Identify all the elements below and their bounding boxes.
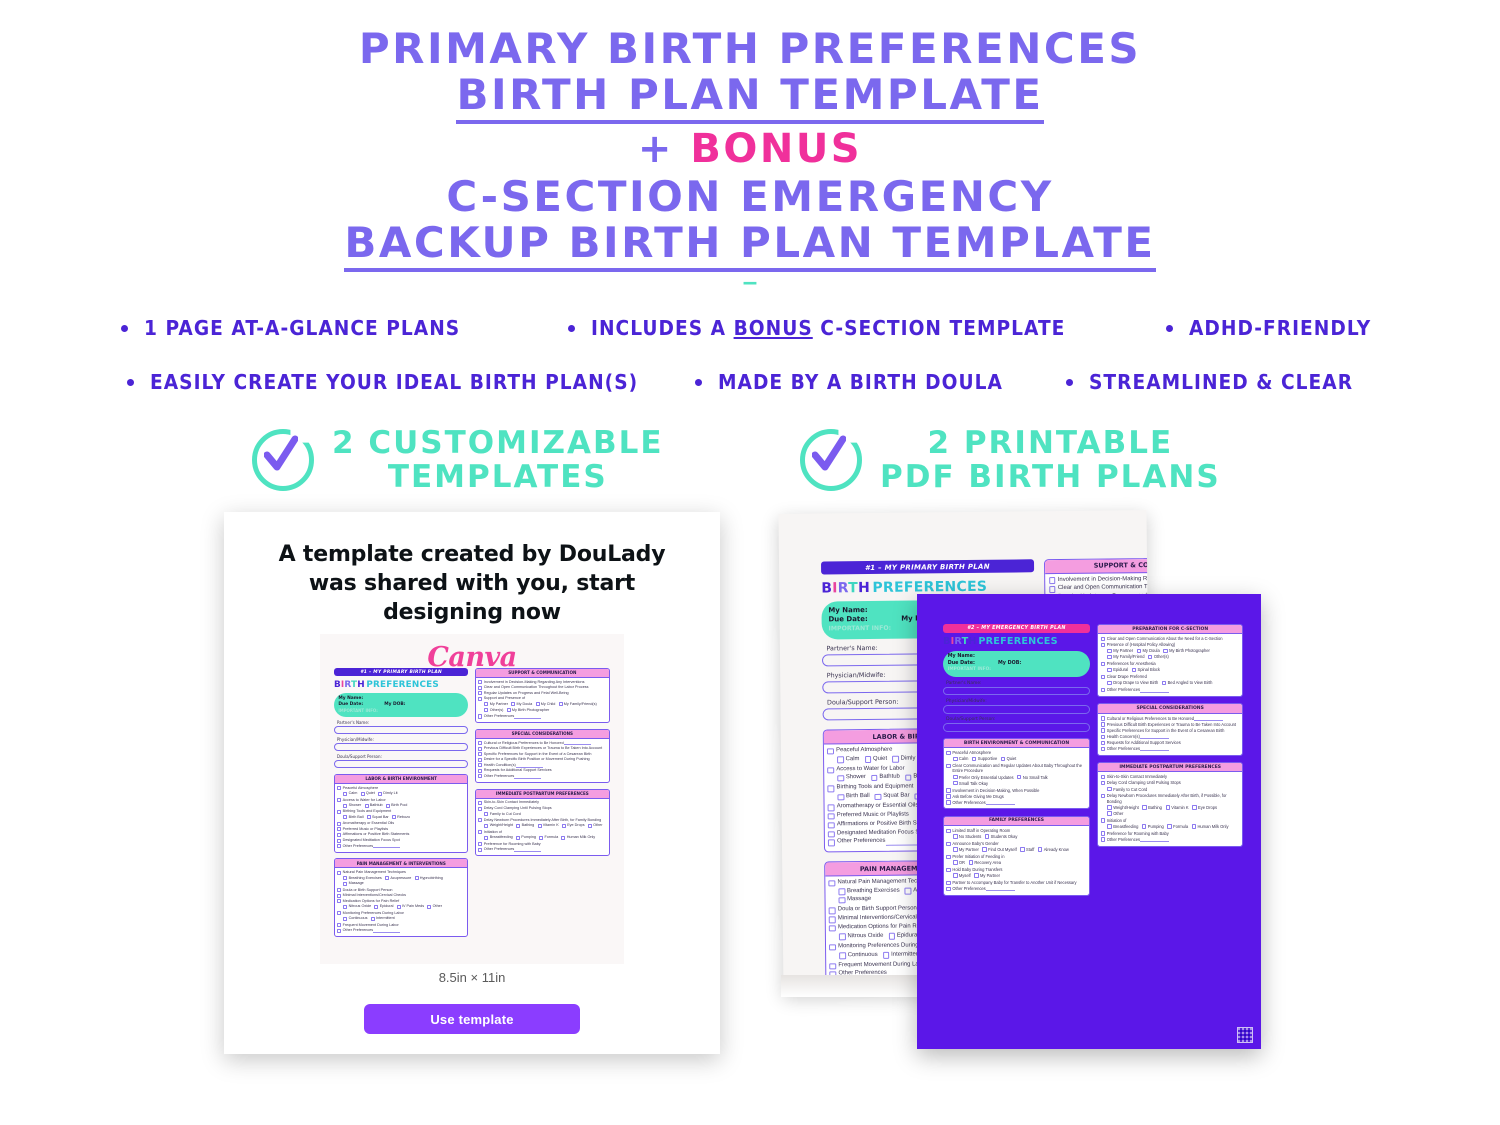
checkbox-icon[interactable] <box>953 860 957 864</box>
checkbox-icon[interactable] <box>478 807 482 811</box>
checkbox-icon[interactable] <box>337 827 341 831</box>
checkbox-icon[interactable] <box>1101 794 1105 798</box>
checkbox-item[interactable]: Specific Preferences for Support in the … <box>1101 728 1240 733</box>
doc-field[interactable]: Partner's Name: <box>943 681 1090 696</box>
checkbox-option[interactable]: Squat Bar <box>875 793 910 801</box>
checkbox-icon[interactable] <box>837 757 843 763</box>
checkbox-icon[interactable] <box>343 792 347 796</box>
checkbox-option[interactable]: Students Okay <box>985 834 1018 839</box>
checkbox-icon[interactable] <box>1107 787 1111 791</box>
checkbox-icon[interactable] <box>561 836 565 840</box>
checkbox-option[interactable]: Massage <box>343 881 363 886</box>
checkbox-icon[interactable] <box>1163 649 1167 653</box>
checkbox-icon[interactable] <box>946 800 950 804</box>
checkbox-item[interactable]: Skin-to-Skin Contact Immediately <box>1101 774 1240 779</box>
checkbox-icon[interactable] <box>953 873 957 877</box>
checkbox-icon[interactable] <box>478 747 482 751</box>
doc-field[interactable]: Physician/Midwife: <box>334 737 468 751</box>
checkbox-option[interactable]: Massage <box>839 896 871 904</box>
checkbox-item[interactable]: Other Preferences <box>946 886 1086 891</box>
checkbox-item[interactable]: Ask Before Giving Me Drugs <box>946 794 1086 799</box>
checkbox-icon[interactable] <box>1101 818 1105 822</box>
checkbox-icon[interactable] <box>972 757 976 761</box>
checkbox-icon[interactable] <box>374 905 378 909</box>
checkbox-icon[interactable] <box>1001 757 1005 761</box>
checkbox-icon[interactable] <box>478 774 482 778</box>
doc-field-input[interactable] <box>943 723 1090 731</box>
checkbox-option[interactable]: Intermittent <box>883 951 921 959</box>
checkbox-option[interactable]: Myself <box>953 873 971 878</box>
checkbox-option[interactable]: OR <box>953 860 965 865</box>
checkbox-icon[interactable] <box>507 708 511 712</box>
checkbox-icon[interactable] <box>828 813 834 819</box>
checkbox-option[interactable]: Squat Bar <box>367 815 389 820</box>
checkbox-icon[interactable] <box>478 741 482 745</box>
checkbox-icon[interactable] <box>829 925 835 931</box>
checkbox-option[interactable]: Prefer Only Essential Updates <box>953 775 1013 780</box>
checkbox-icon[interactable] <box>427 905 431 909</box>
checkbox-icon[interactable] <box>1107 655 1111 659</box>
checkbox-icon[interactable] <box>478 848 482 852</box>
checkbox-item[interactable]: Clear and Open Communication About the N… <box>1101 636 1240 641</box>
checkbox-option[interactable]: Quiet <box>361 791 375 796</box>
checkbox-option[interactable]: Continuous <box>839 952 877 960</box>
checkbox-icon[interactable] <box>337 923 341 927</box>
checkbox-icon[interactable] <box>337 911 341 915</box>
checkbox-item[interactable]: Initiation of <box>1101 818 1240 823</box>
checkbox-item[interactable]: Involvement in Decision-Making Regarding… <box>1049 575 1152 585</box>
checkbox-item[interactable]: Regular Updates on Progress and Fetal We… <box>478 691 606 696</box>
checkbox-item[interactable]: Access to Water for Labor <box>337 798 465 803</box>
checkbox-item[interactable]: Support and Presence of <box>478 696 606 701</box>
checkbox-icon[interactable] <box>828 822 834 828</box>
checkbox-icon[interactable] <box>538 824 542 828</box>
checkbox-icon[interactable] <box>343 876 347 880</box>
checkbox-icon[interactable] <box>337 894 341 898</box>
checkbox-icon[interactable] <box>985 834 989 838</box>
checkbox-option[interactable]: Quiet <box>1001 756 1017 761</box>
checkbox-icon[interactable] <box>828 786 834 792</box>
checkbox-icon[interactable] <box>1101 716 1105 720</box>
checkbox-option[interactable]: Other(s) <box>1148 654 1169 659</box>
checkbox-icon[interactable] <box>946 842 950 846</box>
checkbox-icon[interactable] <box>337 929 341 933</box>
checkbox-option[interactable]: Birth Ball <box>838 793 870 801</box>
checkbox-icon[interactable] <box>1101 722 1105 726</box>
checkbox-icon[interactable] <box>829 916 835 922</box>
checkbox-icon[interactable] <box>1101 675 1105 679</box>
checkbox-option[interactable]: Shower <box>343 803 361 808</box>
checkbox-icon[interactable] <box>371 917 375 921</box>
checkbox-icon[interactable] <box>539 836 543 840</box>
checkbox-option[interactable]: Quiet <box>865 755 888 763</box>
checkbox-option[interactable]: No Small Talk <box>1017 775 1048 780</box>
checkbox-option[interactable]: Breastfeeding <box>484 835 512 840</box>
checkbox-icon[interactable] <box>415 876 419 880</box>
checkbox-option[interactable]: My Birth Photographer <box>507 708 550 713</box>
checkbox-icon[interactable] <box>478 758 482 762</box>
checkbox-icon[interactable] <box>1049 586 1055 592</box>
checkbox-option[interactable]: Pumping <box>1142 824 1164 829</box>
checkbox-icon[interactable] <box>478 714 482 718</box>
checkbox-icon[interactable] <box>982 847 986 851</box>
checkbox-icon[interactable] <box>1101 781 1105 785</box>
checkbox-item[interactable]: Clear and Open Communication Throughout … <box>1049 583 1151 593</box>
checkbox-item[interactable]: Other Preferences <box>1101 746 1240 751</box>
checkbox-option[interactable]: Dimly Lit <box>378 791 398 796</box>
checkbox-item[interactable]: Other Preferences <box>478 847 606 852</box>
checkbox-option[interactable]: Find Out Myself <box>982 847 1016 852</box>
checkbox-icon[interactable] <box>511 702 515 706</box>
checkbox-option[interactable]: Bathing <box>1142 805 1162 810</box>
checkbox-option[interactable]: Breathing Exercises <box>343 876 381 881</box>
checkbox-icon[interactable] <box>828 805 834 811</box>
checkbox-icon[interactable] <box>827 748 833 754</box>
checkbox-item[interactable]: Previous Difficult Birth Experiences or … <box>1101 722 1240 727</box>
checkbox-option[interactable]: No Students <box>953 834 981 839</box>
checkbox-icon[interactable] <box>484 836 488 840</box>
checkbox-item[interactable]: Minimal Interventions/Cervical Checks <box>337 893 465 898</box>
doc-field-input[interactable] <box>943 687 1090 695</box>
checkbox-option[interactable]: Family to Cut Cord <box>1107 787 1147 792</box>
checkbox-item[interactable]: Monitoring Preferences During Labor <box>337 911 465 916</box>
checkbox-option[interactable]: Intermittent <box>371 916 395 921</box>
checkbox-item[interactable]: Desire for a Specific Birth Position or … <box>478 757 606 762</box>
checkbox-option[interactable]: Pumping <box>516 835 536 840</box>
checkbox-icon[interactable] <box>1162 681 1166 685</box>
checkbox-icon[interactable] <box>337 810 341 814</box>
checkbox-option[interactable]: Epidural <box>888 932 918 940</box>
checkbox-option[interactable]: Calm <box>953 756 968 761</box>
checkbox-icon[interactable] <box>386 804 390 808</box>
checkbox-item[interactable]: Involvement in Decision-Making, When Pos… <box>946 788 1086 793</box>
checkbox-option[interactable]: Eye Drops <box>1192 805 1217 810</box>
checkbox-item[interactable]: Skin-to-Skin Contact Immediately <box>478 800 606 805</box>
checkbox-icon[interactable] <box>343 882 347 886</box>
checkbox-item[interactable]: Other Preferences <box>478 714 606 719</box>
checkbox-icon[interactable] <box>1101 662 1105 666</box>
checkbox-icon[interactable] <box>953 834 957 838</box>
checkbox-option[interactable]: Other <box>588 823 603 828</box>
checkbox-icon[interactable] <box>343 804 347 808</box>
checkbox-option[interactable]: My Partner <box>484 702 508 707</box>
checkbox-item[interactable]: Affirmations or Positive Birth Statement… <box>337 832 465 837</box>
checkbox-icon[interactable] <box>1142 824 1146 828</box>
checkbox-icon[interactable] <box>953 757 957 761</box>
checkbox-icon[interactable] <box>478 686 482 690</box>
checkbox-option[interactable]: Epidural <box>1107 667 1128 672</box>
checkbox-item[interactable]: Delay Cord Clamping Until Pulsing Stops <box>478 806 606 811</box>
checkbox-icon[interactable] <box>946 829 950 833</box>
checkbox-option[interactable]: Hypnobirthing <box>415 876 443 881</box>
use-template-button[interactable]: Use template <box>364 1004 580 1034</box>
checkbox-option[interactable]: Other <box>427 904 442 909</box>
checkbox-icon[interactable] <box>892 756 898 762</box>
checkbox-icon[interactable] <box>875 794 881 800</box>
checkbox-icon[interactable] <box>361 792 365 796</box>
checkbox-item[interactable]: Delay Newborn Procedures Immediately Aft… <box>478 818 606 823</box>
checkbox-icon[interactable] <box>365 804 369 808</box>
checkbox-icon[interactable] <box>478 752 482 756</box>
checkbox-icon[interactable] <box>1137 649 1141 653</box>
checkbox-icon[interactable] <box>830 963 836 969</box>
checkbox-icon[interactable] <box>337 798 341 802</box>
checkbox-icon[interactable] <box>1142 805 1146 809</box>
checkbox-option[interactable]: Small Talk Okay <box>953 781 988 786</box>
checkbox-icon[interactable] <box>484 812 488 816</box>
checkbox-option[interactable]: Birth Ball <box>343 815 363 820</box>
checkbox-item[interactable]: Initiation of <box>478 830 606 835</box>
checkbox-option[interactable]: Calm <box>343 791 357 796</box>
checkbox-option[interactable]: Shower <box>837 774 866 782</box>
checkbox-icon[interactable] <box>484 708 488 712</box>
checkbox-icon[interactable] <box>905 775 911 781</box>
checkbox-icon[interactable] <box>337 833 341 837</box>
checkbox-option[interactable]: My Family/Friend(s) <box>559 702 597 707</box>
checkbox-item[interactable]: Preferences for Anesthesia <box>1101 661 1240 666</box>
checkbox-icon[interactable] <box>1020 847 1024 851</box>
checkbox-icon[interactable] <box>1101 728 1105 732</box>
checkbox-icon[interactable] <box>1038 847 1042 851</box>
checkbox-icon[interactable] <box>871 775 877 781</box>
checkbox-icon[interactable] <box>974 873 978 877</box>
doc-field-input[interactable] <box>334 726 468 734</box>
checkbox-option[interactable]: Recovery Area <box>969 860 1002 865</box>
checkbox-option[interactable]: Weight/Height <box>1107 805 1138 810</box>
checkbox-option[interactable]: Epidural <box>374 904 393 909</box>
checkbox-icon[interactable] <box>946 881 950 885</box>
checkbox-icon[interactable] <box>946 794 950 798</box>
checkbox-icon[interactable] <box>1101 637 1105 641</box>
checkbox-icon[interactable] <box>828 840 834 846</box>
checkbox-icon[interactable] <box>559 702 563 706</box>
checkbox-option[interactable]: My Child <box>536 702 556 707</box>
checkbox-icon[interactable] <box>839 888 845 894</box>
checkbox-icon[interactable] <box>905 888 911 894</box>
checkbox-option[interactable]: Vitamin K <box>538 823 559 828</box>
checkbox-item[interactable]: Peaceful Atmosphere <box>337 786 465 791</box>
checkbox-item[interactable]: Other Preferences <box>337 928 465 933</box>
checkbox-icon[interactable] <box>946 868 950 872</box>
checkbox-option[interactable]: Breastfeeding <box>1107 824 1138 829</box>
checkbox-option[interactable]: Nitrous Oxide <box>343 904 371 909</box>
checkbox-icon[interactable] <box>969 860 973 864</box>
checkbox-option[interactable]: Acupressure <box>385 876 411 881</box>
checkbox-item[interactable]: Cultural or Religious Preferences to Be … <box>1101 716 1240 721</box>
checkbox-icon[interactable] <box>1107 668 1111 672</box>
checkbox-icon[interactable] <box>1167 824 1171 828</box>
checkbox-item[interactable]: Preference for Rooming with Baby <box>1101 831 1240 836</box>
checkbox-icon[interactable] <box>536 702 540 706</box>
checkbox-option[interactable]: IV Pain Meds <box>397 904 424 909</box>
checkbox-icon[interactable] <box>883 952 889 958</box>
checkbox-icon[interactable] <box>1107 811 1111 815</box>
checkbox-item[interactable]: Cultural or Religious Preferences to Be … <box>478 741 606 746</box>
checkbox-icon[interactable] <box>478 830 482 834</box>
checkbox-icon[interactable] <box>1101 775 1105 779</box>
doc-field[interactable]: Doula/Support Person: <box>334 754 468 768</box>
checkbox-icon[interactable] <box>337 844 341 848</box>
checkbox-item[interactable]: Preference for Rooming with Baby <box>478 842 606 847</box>
checkbox-icon[interactable] <box>839 897 845 903</box>
canva-template-preview[interactable]: Canva #1 – MY PRIMARY BIRTH PLANBIRTHPRE… <box>320 634 624 964</box>
checkbox-item[interactable]: Health Concern(s) <box>1101 734 1240 739</box>
checkbox-option[interactable]: Eye Drops <box>562 823 585 828</box>
checkbox-icon[interactable] <box>484 702 488 706</box>
doc-field-input[interactable] <box>334 760 468 768</box>
checkbox-option[interactable]: Bathing <box>516 823 534 828</box>
doc-field[interactable]: Doula/Support Person: <box>943 717 1090 732</box>
checkbox-icon[interactable] <box>484 824 488 828</box>
checkbox-item[interactable]: Other Preferences <box>337 844 465 849</box>
checkbox-icon[interactable] <box>1101 741 1105 745</box>
checkbox-item[interactable]: Other Preferences <box>1101 687 1240 692</box>
checkbox-option[interactable]: Spinal Block <box>1132 667 1160 672</box>
checkbox-option[interactable]: Calm <box>837 756 859 764</box>
checkbox-item[interactable]: Specific Preferences for Support in the … <box>478 752 606 757</box>
checkbox-option[interactable]: My Doula <box>1137 648 1160 653</box>
checkbox-item[interactable]: Hold Baby During Transfers <box>946 867 1086 872</box>
checkbox-option[interactable]: Human Milk Only <box>561 835 595 840</box>
checkbox-icon[interactable] <box>1107 649 1111 653</box>
checkbox-item[interactable]: Aromatherapy or Essential Oils <box>337 821 465 826</box>
checkbox-icon[interactable] <box>337 839 341 843</box>
checkbox-option[interactable]: Rebozo <box>392 815 410 820</box>
checkbox-icon[interactable] <box>829 908 835 914</box>
checkbox-icon[interactable] <box>829 944 835 950</box>
checkbox-icon[interactable] <box>1017 775 1021 779</box>
checkbox-item[interactable]: Other Preferences <box>946 800 1086 805</box>
checkbox-option[interactable]: Nitrous Oxide <box>839 933 883 941</box>
doc-field[interactable]: Partner's Name: <box>334 720 468 734</box>
checkbox-icon[interactable] <box>827 767 833 773</box>
checkbox-icon[interactable] <box>478 763 482 767</box>
checkbox-item[interactable]: Prefer Initiation of Feeding in <box>946 854 1086 859</box>
checkbox-item[interactable]: Birthing Tools and Equipment <box>337 809 465 814</box>
checkbox-icon[interactable] <box>588 824 592 828</box>
checkbox-item[interactable]: Preferred Music or Playlists <box>337 827 465 832</box>
checkbox-icon[interactable] <box>378 792 382 796</box>
checkbox-icon[interactable] <box>562 824 566 828</box>
checkbox-icon[interactable] <box>1107 824 1111 828</box>
checkbox-option[interactable]: Family to Cut Cord <box>484 812 520 817</box>
checkbox-option[interactable]: Human Milk Only <box>1192 824 1229 829</box>
checkbox-icon[interactable] <box>478 691 482 695</box>
checkbox-option[interactable]: My Family/Friend <box>1107 654 1144 659</box>
checkbox-item[interactable]: Requests for Additional Support Services <box>1101 740 1240 745</box>
checkbox-icon[interactable] <box>478 697 482 701</box>
checkbox-item[interactable]: Doula or Birth Support Person <box>337 888 465 893</box>
checkbox-icon[interactable] <box>839 952 845 958</box>
checkbox-icon[interactable] <box>953 775 957 779</box>
checkbox-option[interactable]: Bathtub <box>365 803 383 808</box>
checkbox-option[interactable]: My Partner <box>974 873 1000 878</box>
checkbox-icon[interactable] <box>337 899 341 903</box>
checkbox-icon[interactable] <box>1101 643 1105 647</box>
checkbox-option[interactable]: Bathtub <box>871 774 900 782</box>
checkbox-item[interactable]: Designated Meditation Focus Spot <box>337 838 465 843</box>
checkbox-icon[interactable] <box>392 815 396 819</box>
doc-field-input[interactable] <box>943 705 1090 713</box>
checkbox-icon[interactable] <box>1166 805 1170 809</box>
checkbox-icon[interactable] <box>1192 824 1196 828</box>
checkbox-item[interactable]: Announce Baby's Gender <box>946 841 1086 846</box>
checkbox-item[interactable]: Other Preferences <box>478 774 606 779</box>
checkbox-icon[interactable] <box>837 775 843 781</box>
checkbox-icon[interactable] <box>1107 805 1111 809</box>
checkbox-option[interactable]: Drop Drape to View Birth <box>1107 680 1158 685</box>
doc-field[interactable]: Physician/Midwife: <box>943 699 1090 714</box>
checkbox-icon[interactable] <box>397 905 401 909</box>
checkbox-item[interactable]: Frequent Movement During Labor <box>337 923 465 928</box>
checkbox-icon[interactable] <box>343 917 347 921</box>
checkbox-icon[interactable] <box>888 933 894 939</box>
checkbox-option[interactable]: Staff <box>1020 847 1034 852</box>
checkbox-item[interactable]: Clear Drape Preferred <box>1101 674 1240 679</box>
checkbox-icon[interactable] <box>829 880 835 886</box>
checkbox-icon[interactable] <box>516 824 520 828</box>
checkbox-option[interactable]: Breathing Exercises <box>839 887 900 895</box>
checkbox-option[interactable]: Supportive <box>972 756 997 761</box>
checkbox-item[interactable]: Health Condition(s) <box>478 763 606 768</box>
checkbox-icon[interactable] <box>865 756 871 762</box>
checkbox-icon[interactable] <box>946 764 950 768</box>
checkbox-icon[interactable] <box>946 751 950 755</box>
checkbox-icon[interactable] <box>1101 831 1105 835</box>
checkbox-item[interactable]: Partner to Accompany Baby for Transfer t… <box>946 880 1086 885</box>
checkbox-icon[interactable] <box>1101 735 1105 739</box>
checkbox-icon[interactable] <box>478 842 482 846</box>
checkbox-icon[interactable] <box>1132 668 1136 672</box>
checkbox-option[interactable]: Formula <box>1167 824 1188 829</box>
checkbox-icon[interactable] <box>946 887 950 891</box>
checkbox-icon[interactable] <box>953 781 957 785</box>
checkbox-option[interactable]: Vitamin K <box>1166 805 1189 810</box>
checkbox-item[interactable]: Delay Cord Clamping Until Pulsing Stops <box>1101 780 1240 785</box>
checkbox-option[interactable]: My Partner <box>953 847 979 852</box>
checkbox-item[interactable]: Requests for Additional Support Services <box>478 768 606 773</box>
checkbox-icon[interactable] <box>946 855 950 859</box>
checkbox-icon[interactable] <box>337 822 341 826</box>
checkbox-icon[interactable] <box>337 786 341 790</box>
checkbox-item[interactable]: Limited Staff in Operating Room <box>946 828 1086 833</box>
checkbox-item[interactable]: Natural Pain Management Techniques <box>337 870 465 875</box>
checkbox-option[interactable]: Bed Angled to View Birth <box>1162 680 1213 685</box>
checkbox-icon[interactable] <box>1101 837 1105 841</box>
checkbox-icon[interactable] <box>1192 805 1196 809</box>
checkbox-item[interactable]: Other Preferences <box>1101 837 1240 842</box>
checkbox-item[interactable]: Medication Options for Pain Relief <box>337 899 465 904</box>
checkbox-option[interactable]: Birth Pool <box>386 803 407 808</box>
checkbox-option[interactable]: Formula <box>539 835 558 840</box>
checkbox-icon[interactable] <box>343 815 347 819</box>
checkbox-icon[interactable] <box>828 831 834 837</box>
checkbox-icon[interactable] <box>516 836 520 840</box>
checkbox-icon[interactable] <box>343 905 347 909</box>
checkbox-icon[interactable] <box>1148 655 1152 659</box>
checkbox-icon[interactable] <box>946 788 950 792</box>
checkbox-icon[interactable] <box>385 876 389 880</box>
checkbox-option[interactable]: Other <box>1107 811 1123 816</box>
checkbox-item[interactable]: Clear Communication and Regular Updates … <box>946 763 1086 774</box>
checkbox-icon[interactable] <box>1049 578 1055 584</box>
checkbox-icon[interactable] <box>1107 681 1111 685</box>
checkbox-item[interactable]: Previous Difficult Birth Experiences or … <box>478 746 606 751</box>
checkbox-item[interactable]: Delay Newborn Procedures Immediately Aft… <box>1101 793 1240 804</box>
checkbox-icon[interactable] <box>478 769 482 773</box>
checkbox-option[interactable]: My Birth Photographer <box>1163 648 1210 653</box>
checkbox-option[interactable]: My Partner <box>1107 648 1133 653</box>
